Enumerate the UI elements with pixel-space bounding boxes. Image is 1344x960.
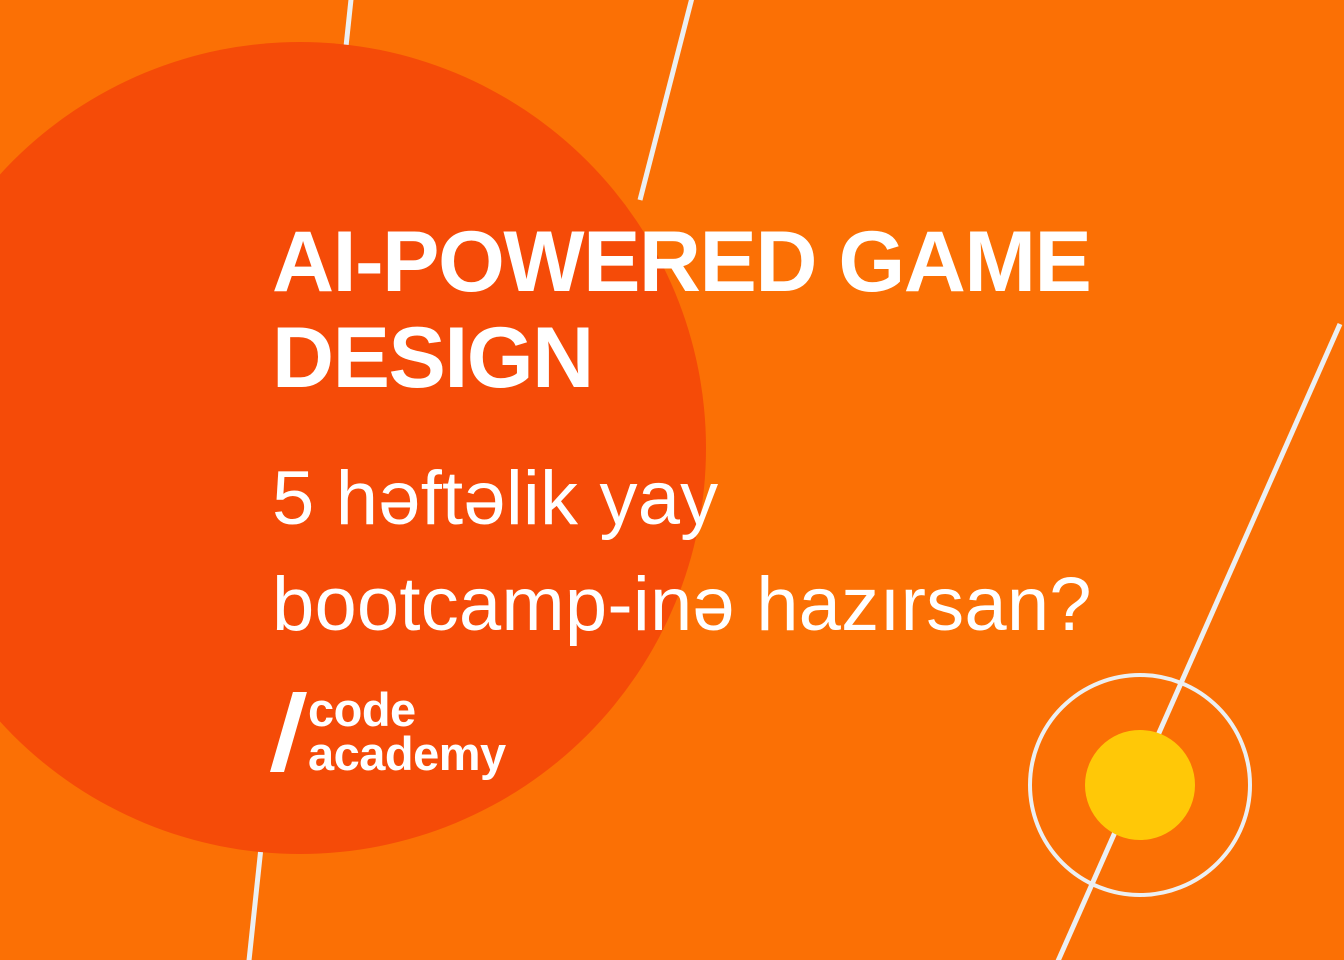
poster-content: AI-POWERED GAME DESIGN 5 həftəlik yay bo… xyxy=(0,0,1344,960)
logo-word-academy: academy xyxy=(308,732,506,776)
slash-glyph-label: / xyxy=(268,688,269,689)
logo-wordmark: code academy xyxy=(308,688,506,776)
slash-icon: / xyxy=(268,688,294,774)
logo-word-code: code xyxy=(308,688,506,732)
promo-poster: AI-POWERED GAME DESIGN 5 həftəlik yay bo… xyxy=(0,0,1344,960)
subtitle: 5 həftəlik yay bootcamp-inə hazırsan? xyxy=(272,446,1232,659)
page-title: AI-POWERED GAME DESIGN xyxy=(272,214,1172,407)
logo[interactable]: / code academy xyxy=(268,688,506,776)
